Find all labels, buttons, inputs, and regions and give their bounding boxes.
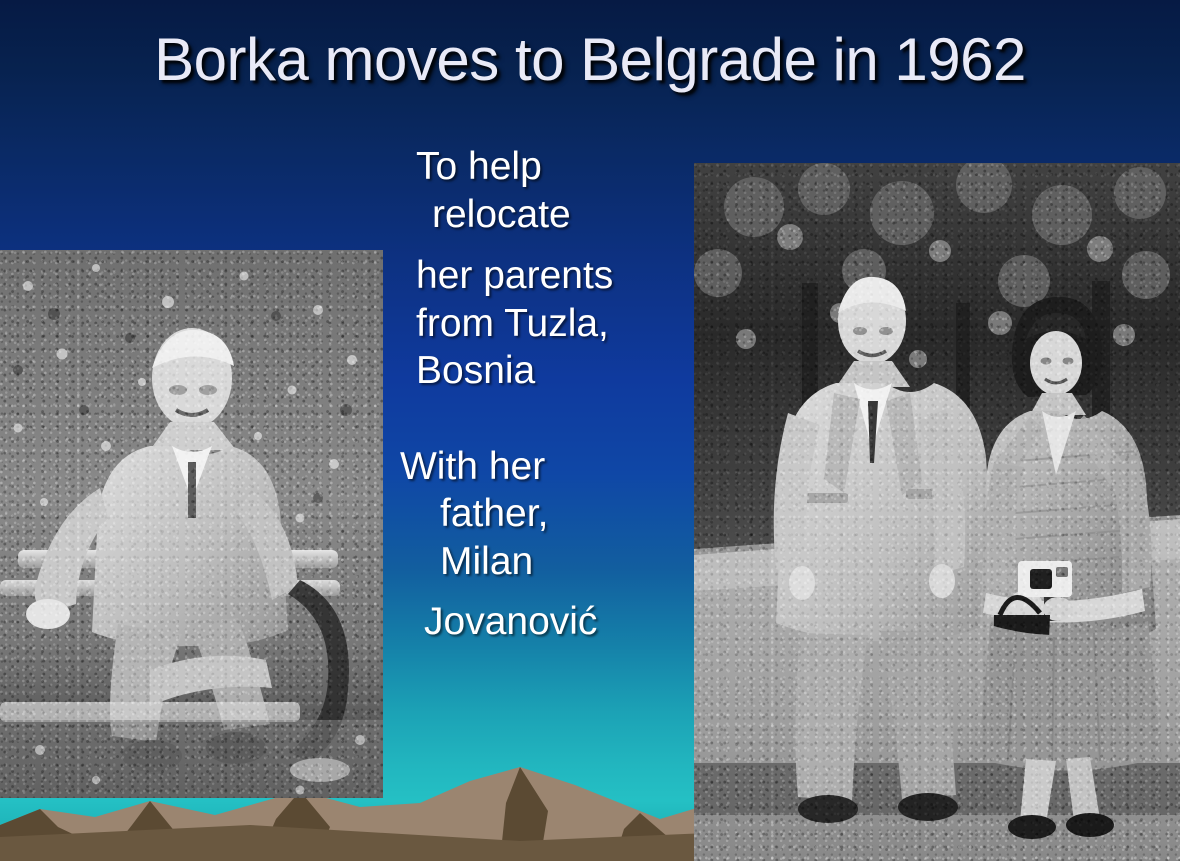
body-line: father, — [400, 490, 700, 538]
body-line: Milan — [400, 538, 700, 586]
body-line: her parents — [400, 252, 700, 300]
body-paragraph-2: With her father, Milan Jovanović — [400, 443, 700, 645]
body-line: Bosnia — [400, 347, 700, 395]
slide-title: Borka moves to Belgrade in 1962 — [0, 28, 1180, 91]
body-line: Jovanović — [400, 598, 700, 646]
slide-body-text: To help relocate her parents from Tuzla,… — [400, 143, 700, 645]
body-line: To help — [400, 143, 700, 191]
photo-father-and-daughter — [694, 163, 1180, 861]
paragraph-spacer — [400, 395, 700, 443]
photo-man-on-bench — [0, 250, 383, 798]
body-line: relocate — [400, 191, 700, 239]
body-line: from Tuzla, — [400, 300, 700, 348]
body-paragraph-1: To help relocate her parents from Tuzla,… — [400, 143, 700, 395]
presentation-slide: Borka moves to Belgrade in 1962 To help … — [0, 0, 1180, 861]
body-line: With her — [400, 443, 700, 491]
